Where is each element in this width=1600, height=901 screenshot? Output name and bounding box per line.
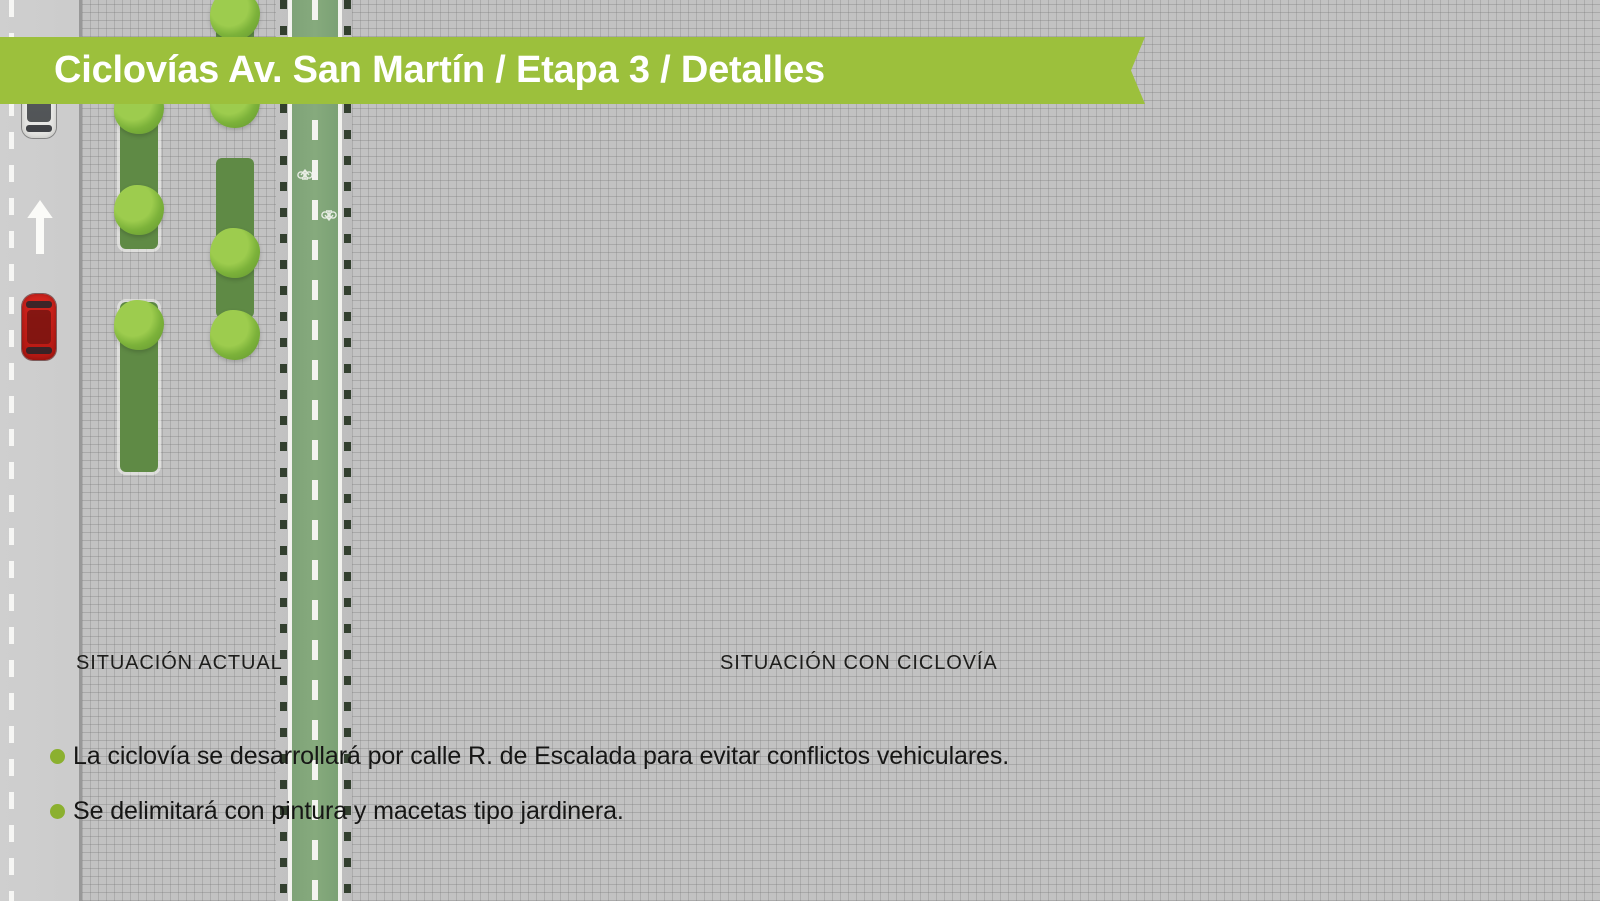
bicycle-icon [320,196,338,222]
car-windshield [26,301,52,308]
car-roof [27,310,50,344]
tree-top-view-icon [114,185,164,235]
list-item: La ciclovía se desarrollará por calle R.… [50,742,1250,771]
tree-top-view-icon [114,300,164,350]
tree-top-view-icon [210,310,260,360]
caption-situacion-con-ciclovia: SITUACIÓN CON CICLOVÍA [720,652,998,675]
list-item: Se delimitará con pintura y macetas tipo… [50,797,1250,826]
slide-title-bar: Ciclovías Av. San Martín / Etapa 3 / Det… [0,37,1145,104]
page-title: Ciclovías Av. San Martín / Etapa 3 / Det… [54,37,825,104]
tree-top-view-icon [210,228,260,278]
car-rear-window [26,347,52,354]
bullet-text: Se delimitará con pintura y macetas tipo… [73,797,624,826]
up-arrow-icon [27,200,53,254]
bullet-dot-icon [50,804,65,819]
bicycle-icon [296,168,314,194]
car-top-view-icon [22,294,56,360]
slide-canvas: Ciclovías Av. San Martín / Etapa 3 / Det… [0,0,1600,901]
car-rear-window [26,125,52,132]
bullet-dot-icon [50,749,65,764]
bullet-text: La ciclovía se desarrollará por calle R.… [73,742,1009,771]
caption-situacion-actual: SITUACIÓN ACTUAL [76,652,283,675]
bullet-list: La ciclovía se desarrollará por calle R.… [50,742,1250,852]
